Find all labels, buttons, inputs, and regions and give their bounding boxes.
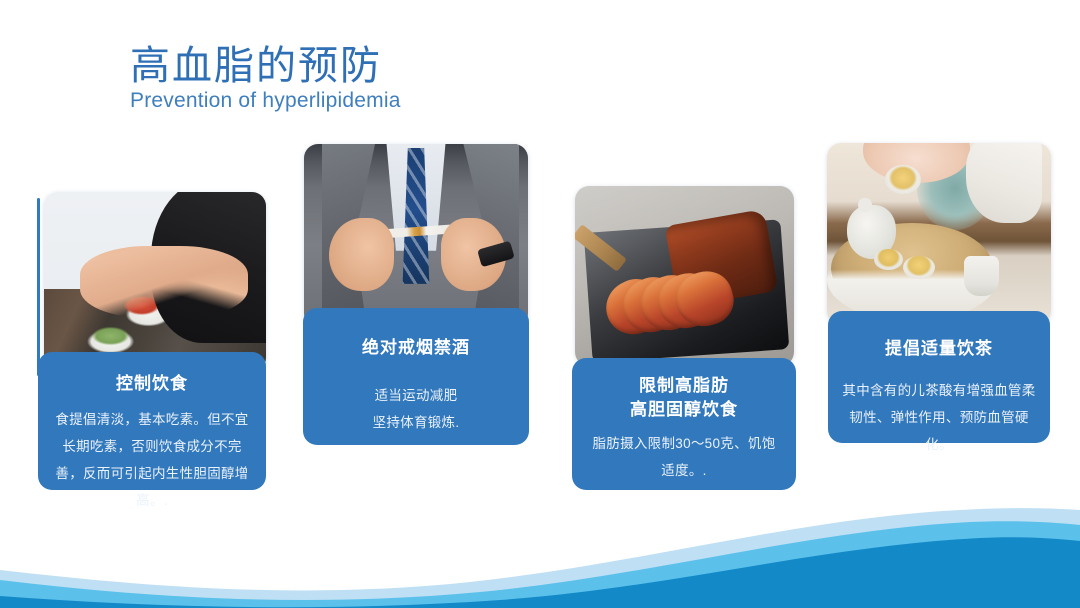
tea-cup-side (964, 256, 1000, 296)
photo-man-breaking-cigarette (304, 144, 528, 328)
wave-dark-layer (0, 537, 1080, 608)
tea-cup (903, 256, 934, 280)
photo-artwork (827, 143, 1051, 325)
photo-plating-vegetables (44, 192, 266, 372)
slide-canvas: 高血脂的预防 Prevention of hyperlipidemia 控制饮食… (0, 0, 1080, 608)
photo-artwork (304, 144, 528, 328)
card-accent-bar (37, 198, 40, 376)
bottom-wave-decoration (0, 508, 1080, 608)
card-body: 其中含有的儿茶酸有增强血管柔韧性、弹性作用、预防血管硬化。 (828, 377, 1050, 458)
photo-artwork (575, 186, 794, 366)
card-body: 适当运动减肥 坚持体育锻炼. (303, 382, 529, 436)
photo-pouring-tea (827, 143, 1051, 325)
card-panel: 提倡适量饮茶 其中含有的儿茶酸有增强血管柔韧性、弹性作用、预防血管硬化。 (828, 311, 1050, 443)
card-panel: 绝对戒烟禁酒 适当运动减肥 坚持体育锻炼. (303, 308, 529, 445)
page-title-cn: 高血脂的预防 (130, 42, 650, 90)
card-panel: 限制高脂肪 高胆固醇饮食 脂肪摄入限制30～50克、饥饱适度。. (572, 358, 796, 490)
photo-artwork (44, 192, 266, 372)
card-title: 绝对戒烟禁酒 (303, 336, 529, 360)
wave-mid-layer (0, 521, 1080, 608)
card-title: 限制高脂肪 高胆固醇饮食 (572, 374, 796, 422)
wave-light-layer (0, 508, 1080, 608)
card-body: 脂肪摄入限制30～50克、饥饱适度。. (572, 430, 796, 484)
left-hand (329, 218, 394, 292)
page-title: 高血脂的预防 Prevention of hyperlipidemia (130, 42, 650, 114)
card-panel: 控制饮食 食提倡清淡，基本吃素。但不宜长期吃素，否则饮食成分不完善，反而可引起内… (38, 352, 266, 490)
card-title: 提倡适量饮茶 (828, 337, 1050, 361)
photo-sliced-cured-pork (575, 186, 794, 366)
page-subtitle-en: Prevention of hyperlipidemia (130, 88, 650, 114)
card-title: 控制饮食 (38, 372, 266, 396)
tea-cup-held (885, 165, 921, 194)
teapot-lid (858, 198, 871, 213)
card-body: 食提倡清淡，基本吃素。但不宜长期吃素，否则饮食成分不完善，反而可引起内生性胆固醇… (38, 406, 266, 514)
